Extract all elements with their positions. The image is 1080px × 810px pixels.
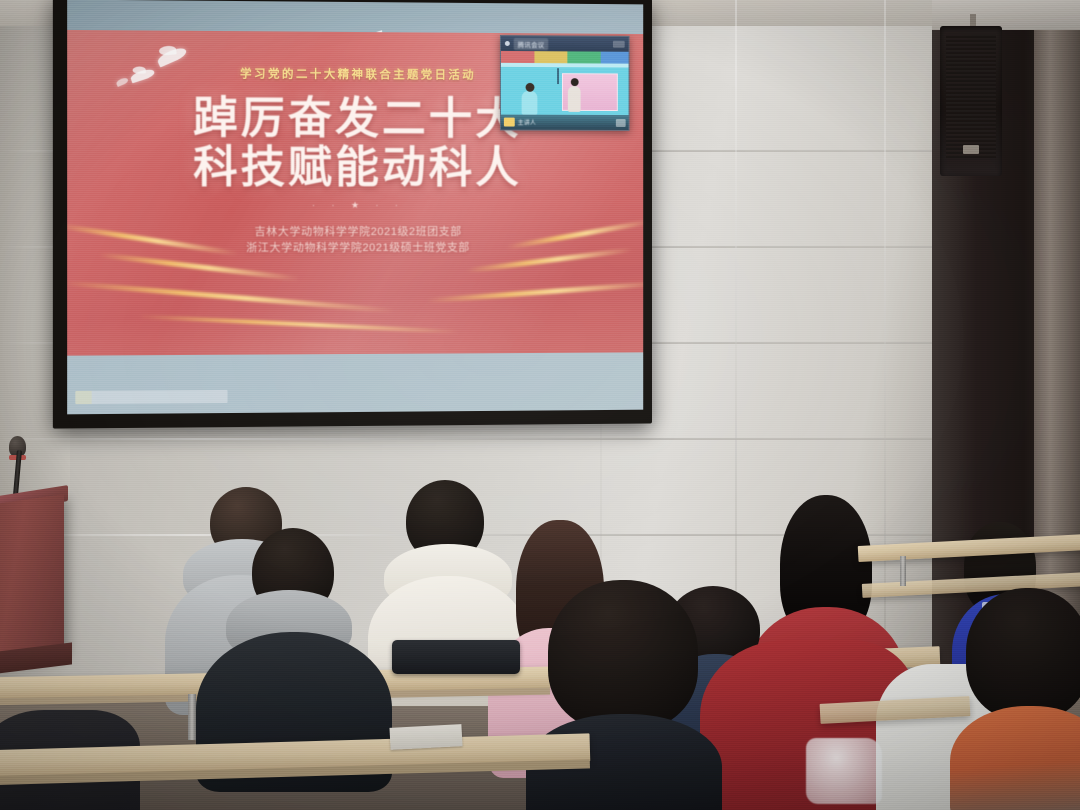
- chair-back: [392, 640, 520, 674]
- remote-participant: [521, 90, 537, 114]
- speaker-badge: [963, 145, 979, 154]
- presentation-slide: 学习党的二十大精神联合主题党日活动 踔厉奋发二十大 科技赋能动科人 · · ★ …: [67, 30, 643, 356]
- video-banner-stripe: [501, 51, 629, 64]
- video-window-titlebar[interactable]: 腾讯会议: [501, 36, 629, 52]
- minimize-icon[interactable]: [613, 41, 625, 48]
- participant-label: 主讲人: [518, 118, 536, 127]
- slide-title-line-2: 科技赋能动科人: [67, 142, 643, 192]
- stand-pole: [557, 69, 559, 85]
- projection-screen[interactable]: 学习党的二十大精神联合主题党日活动 踔厉奋发二十大 科技赋能动科人 · · ★ …: [67, 0, 643, 414]
- speaker-grille: [946, 34, 996, 158]
- app-icon: [505, 41, 510, 46]
- head: [966, 588, 1080, 720]
- projection-screen-frame: 学习党的二十大精神联合主题党日活动 踔厉奋发二十大 科技赋能动科人 · · ★ …: [53, 0, 652, 429]
- slide-footer-line-2: 浙江大学动物科学学院2021级硕士班党支部: [67, 240, 643, 257]
- student-orange-collar: [960, 588, 1080, 810]
- student-front-dark: [530, 580, 710, 810]
- slide-footer: 吉林大学动物科学学院2021级2班团支部 浙江大学动物科学学院2021级硕士班党…: [67, 224, 643, 257]
- star-divider: · · ★ · ·: [67, 200, 643, 211]
- video-corner-control[interactable]: [616, 118, 626, 126]
- video-window-title: 腾讯会议: [514, 38, 549, 50]
- plastic-bag: [806, 738, 882, 804]
- video-window-footer: 主讲人: [501, 115, 629, 130]
- lectern: [0, 494, 64, 666]
- desk-leg: [900, 556, 906, 586]
- wall-seam: [0, 438, 1080, 440]
- lecture-hall-photo: 学习党的二十大精神联合主题党日活动 踔厉奋发二十大 科技赋能动科人 · · ★ …: [0, 0, 1080, 810]
- video-conference-window[interactable]: 腾讯会议 主讲人: [500, 35, 630, 131]
- slide-footer-line-1: 吉林大学动物科学学院2021级2班团支部: [67, 224, 643, 240]
- desk-leg: [188, 694, 196, 740]
- torso: [950, 706, 1080, 810]
- remote-presenter: [567, 86, 580, 112]
- video-banner-stripe: [501, 63, 629, 68]
- taskbar[interactable]: [75, 390, 227, 404]
- wall-speaker: [940, 26, 1002, 176]
- wall-seam: [735, 0, 737, 660]
- video-feed: 主讲人: [501, 51, 629, 130]
- participant-badge: [504, 118, 515, 127]
- head: [548, 580, 698, 730]
- notebook: [389, 724, 462, 750]
